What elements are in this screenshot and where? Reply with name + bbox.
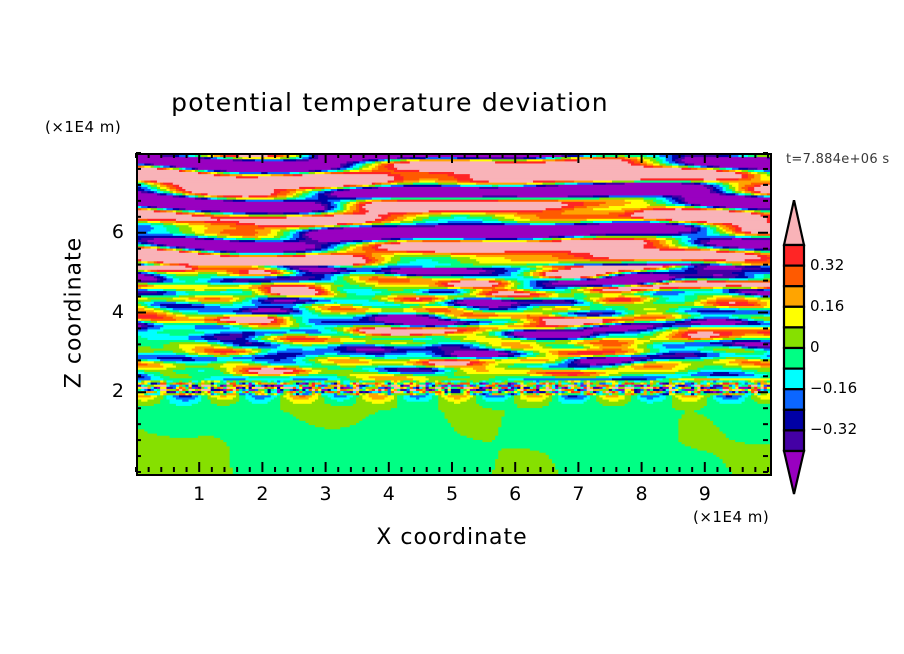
y-axis-title: Z coordinate <box>62 203 87 423</box>
y-tick-label: 2 <box>84 380 124 402</box>
colorbar-tick-label: −0.16 <box>810 379 880 397</box>
colorbar-tick-label: −0.32 <box>810 420 880 438</box>
timestamp-annotation: t=7.884e+06 s <box>786 152 889 167</box>
colorbar-tick-label: 0.32 <box>810 256 880 274</box>
figure-canvas: potential temperature deviation (×1E4 m)… <box>0 0 904 654</box>
x-tick-label: 4 <box>369 483 409 505</box>
x-tick-label: 3 <box>306 483 346 505</box>
y-tick-label: 4 <box>84 301 124 323</box>
x-tick-label: 1 <box>179 483 219 505</box>
x-axis-unit-label: (×1E4 m) <box>693 508 769 526</box>
x-axis-title: X coordinate <box>270 525 634 550</box>
x-tick-label: 6 <box>495 483 535 505</box>
page-title: potential temperature deviation <box>0 88 780 117</box>
x-tick-label: 9 <box>685 483 725 505</box>
x-tick-label: 8 <box>622 483 662 505</box>
colorbar-tick-label: 0 <box>810 338 880 356</box>
y-axis-unit-label: (×1E4 m) <box>45 118 121 136</box>
contour-field <box>138 155 770 474</box>
colorbar-tick-label: 0.16 <box>810 297 880 315</box>
contour-plot-area <box>136 153 772 476</box>
x-tick-label: 7 <box>558 483 598 505</box>
x-tick-label: 5 <box>432 483 472 505</box>
x-tick-label: 2 <box>242 483 282 505</box>
y-tick-label: 6 <box>84 221 124 243</box>
